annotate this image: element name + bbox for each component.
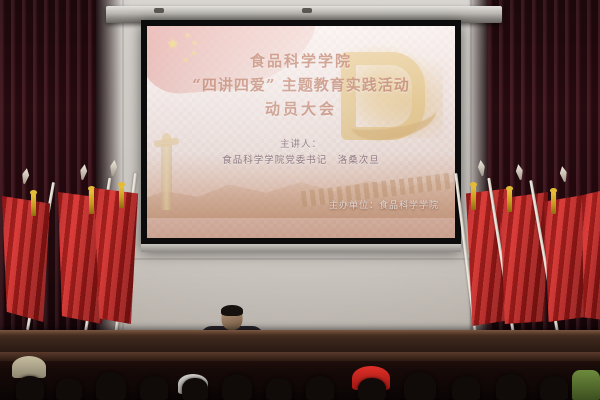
flag-group bbox=[0, 0, 600, 360]
attendee-head-2 bbox=[56, 378, 82, 400]
attendee-head-11 bbox=[452, 376, 480, 400]
light-cap-attendee bbox=[12, 356, 46, 378]
green-jacket-attendee bbox=[572, 370, 600, 400]
flag-fold-texture bbox=[2, 196, 50, 322]
presenter-hair bbox=[221, 305, 243, 316]
flag-pole-tip-right-3 bbox=[559, 166, 569, 183]
attendee-head-9 bbox=[358, 378, 386, 400]
flag-fold-texture bbox=[582, 190, 600, 320]
attendee-head-4 bbox=[140, 376, 168, 400]
flag-pole-tip-right-2 bbox=[515, 164, 524, 181]
attendee-head-12 bbox=[496, 374, 526, 400]
attendee-head-5 bbox=[182, 378, 208, 400]
attendee-head-6 bbox=[222, 374, 252, 400]
table-front-edge bbox=[0, 330, 600, 335]
attendee-head-8 bbox=[306, 376, 334, 400]
red-flag-right-4 bbox=[582, 190, 600, 320]
auditorium-photo: ★ ★ ★ ★ ★ 食品科学学院 “四讲四爱” 主题教育实践活动 bbox=[0, 0, 600, 400]
red-flag-left-1 bbox=[2, 196, 50, 322]
flag-pole-tip-right-1 bbox=[477, 160, 486, 177]
flag-pole-tip-left-3 bbox=[109, 160, 118, 177]
tassel-right-1 bbox=[471, 186, 476, 210]
flag-pole-tip-left-1 bbox=[21, 168, 31, 185]
front-row-rail bbox=[0, 352, 600, 361]
attendee-head-10 bbox=[404, 372, 436, 400]
tassel-left-1 bbox=[31, 194, 36, 216]
tassel-right-2 bbox=[507, 190, 512, 212]
attendee-head-3 bbox=[96, 372, 126, 400]
attendee-head-7 bbox=[266, 378, 292, 400]
tassel-left-2 bbox=[89, 190, 94, 214]
flag-fold-texture bbox=[94, 188, 138, 324]
red-flag-left-3 bbox=[94, 188, 138, 324]
attendee-head-1 bbox=[16, 376, 44, 400]
attendee-head-13 bbox=[540, 376, 568, 400]
tassel-right-3 bbox=[551, 192, 556, 214]
tassel-left-3 bbox=[119, 186, 124, 208]
flag-pole-tip-left-2 bbox=[79, 164, 88, 181]
seated-audience bbox=[0, 352, 600, 400]
